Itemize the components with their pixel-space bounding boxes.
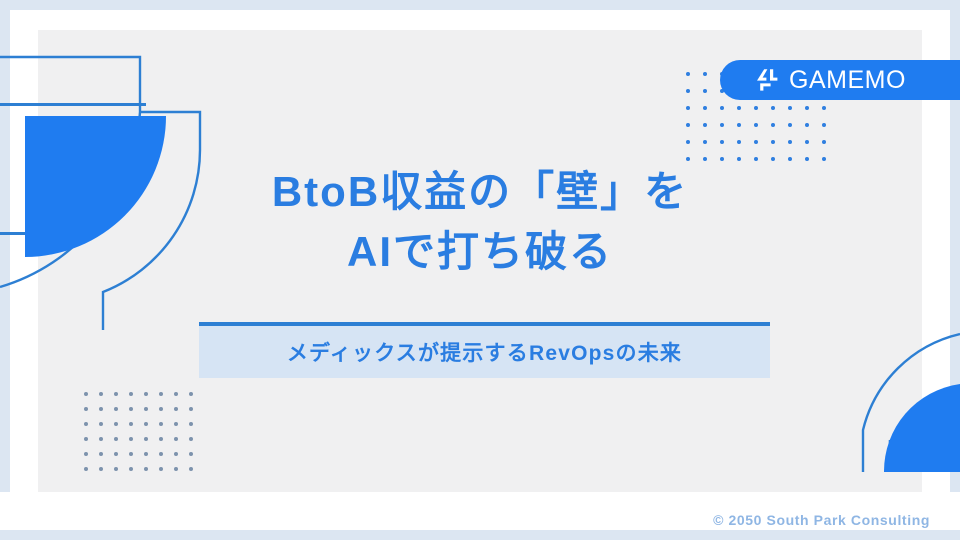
title-line-2: AIで打ち破る: [180, 222, 780, 282]
dot-grid-bottom-left: [84, 392, 204, 482]
page-title: BtoB収益の「壁」を AIで打ち破る: [180, 162, 780, 281]
title-line-1: BtoB収益の「壁」を: [180, 162, 780, 222]
gamemo-logo-text: GAMEMO: [789, 66, 906, 95]
copyright-notice: © 2050 South Park Consulting: [713, 512, 930, 528]
subtitle-text: メディックスが提示するRevOpsの未来: [287, 337, 682, 367]
slide-canvas: GAMEMO BtoB収益の「壁」を AIで打ち破る メディックスが提示するRe…: [0, 0, 960, 540]
gamemo-glyph-icon: [754, 68, 780, 92]
gamemo-logo-badge[interactable]: GAMEMO: [720, 60, 960, 100]
subtitle-banner: メディックスが提示するRevOpsの未来: [199, 322, 770, 378]
